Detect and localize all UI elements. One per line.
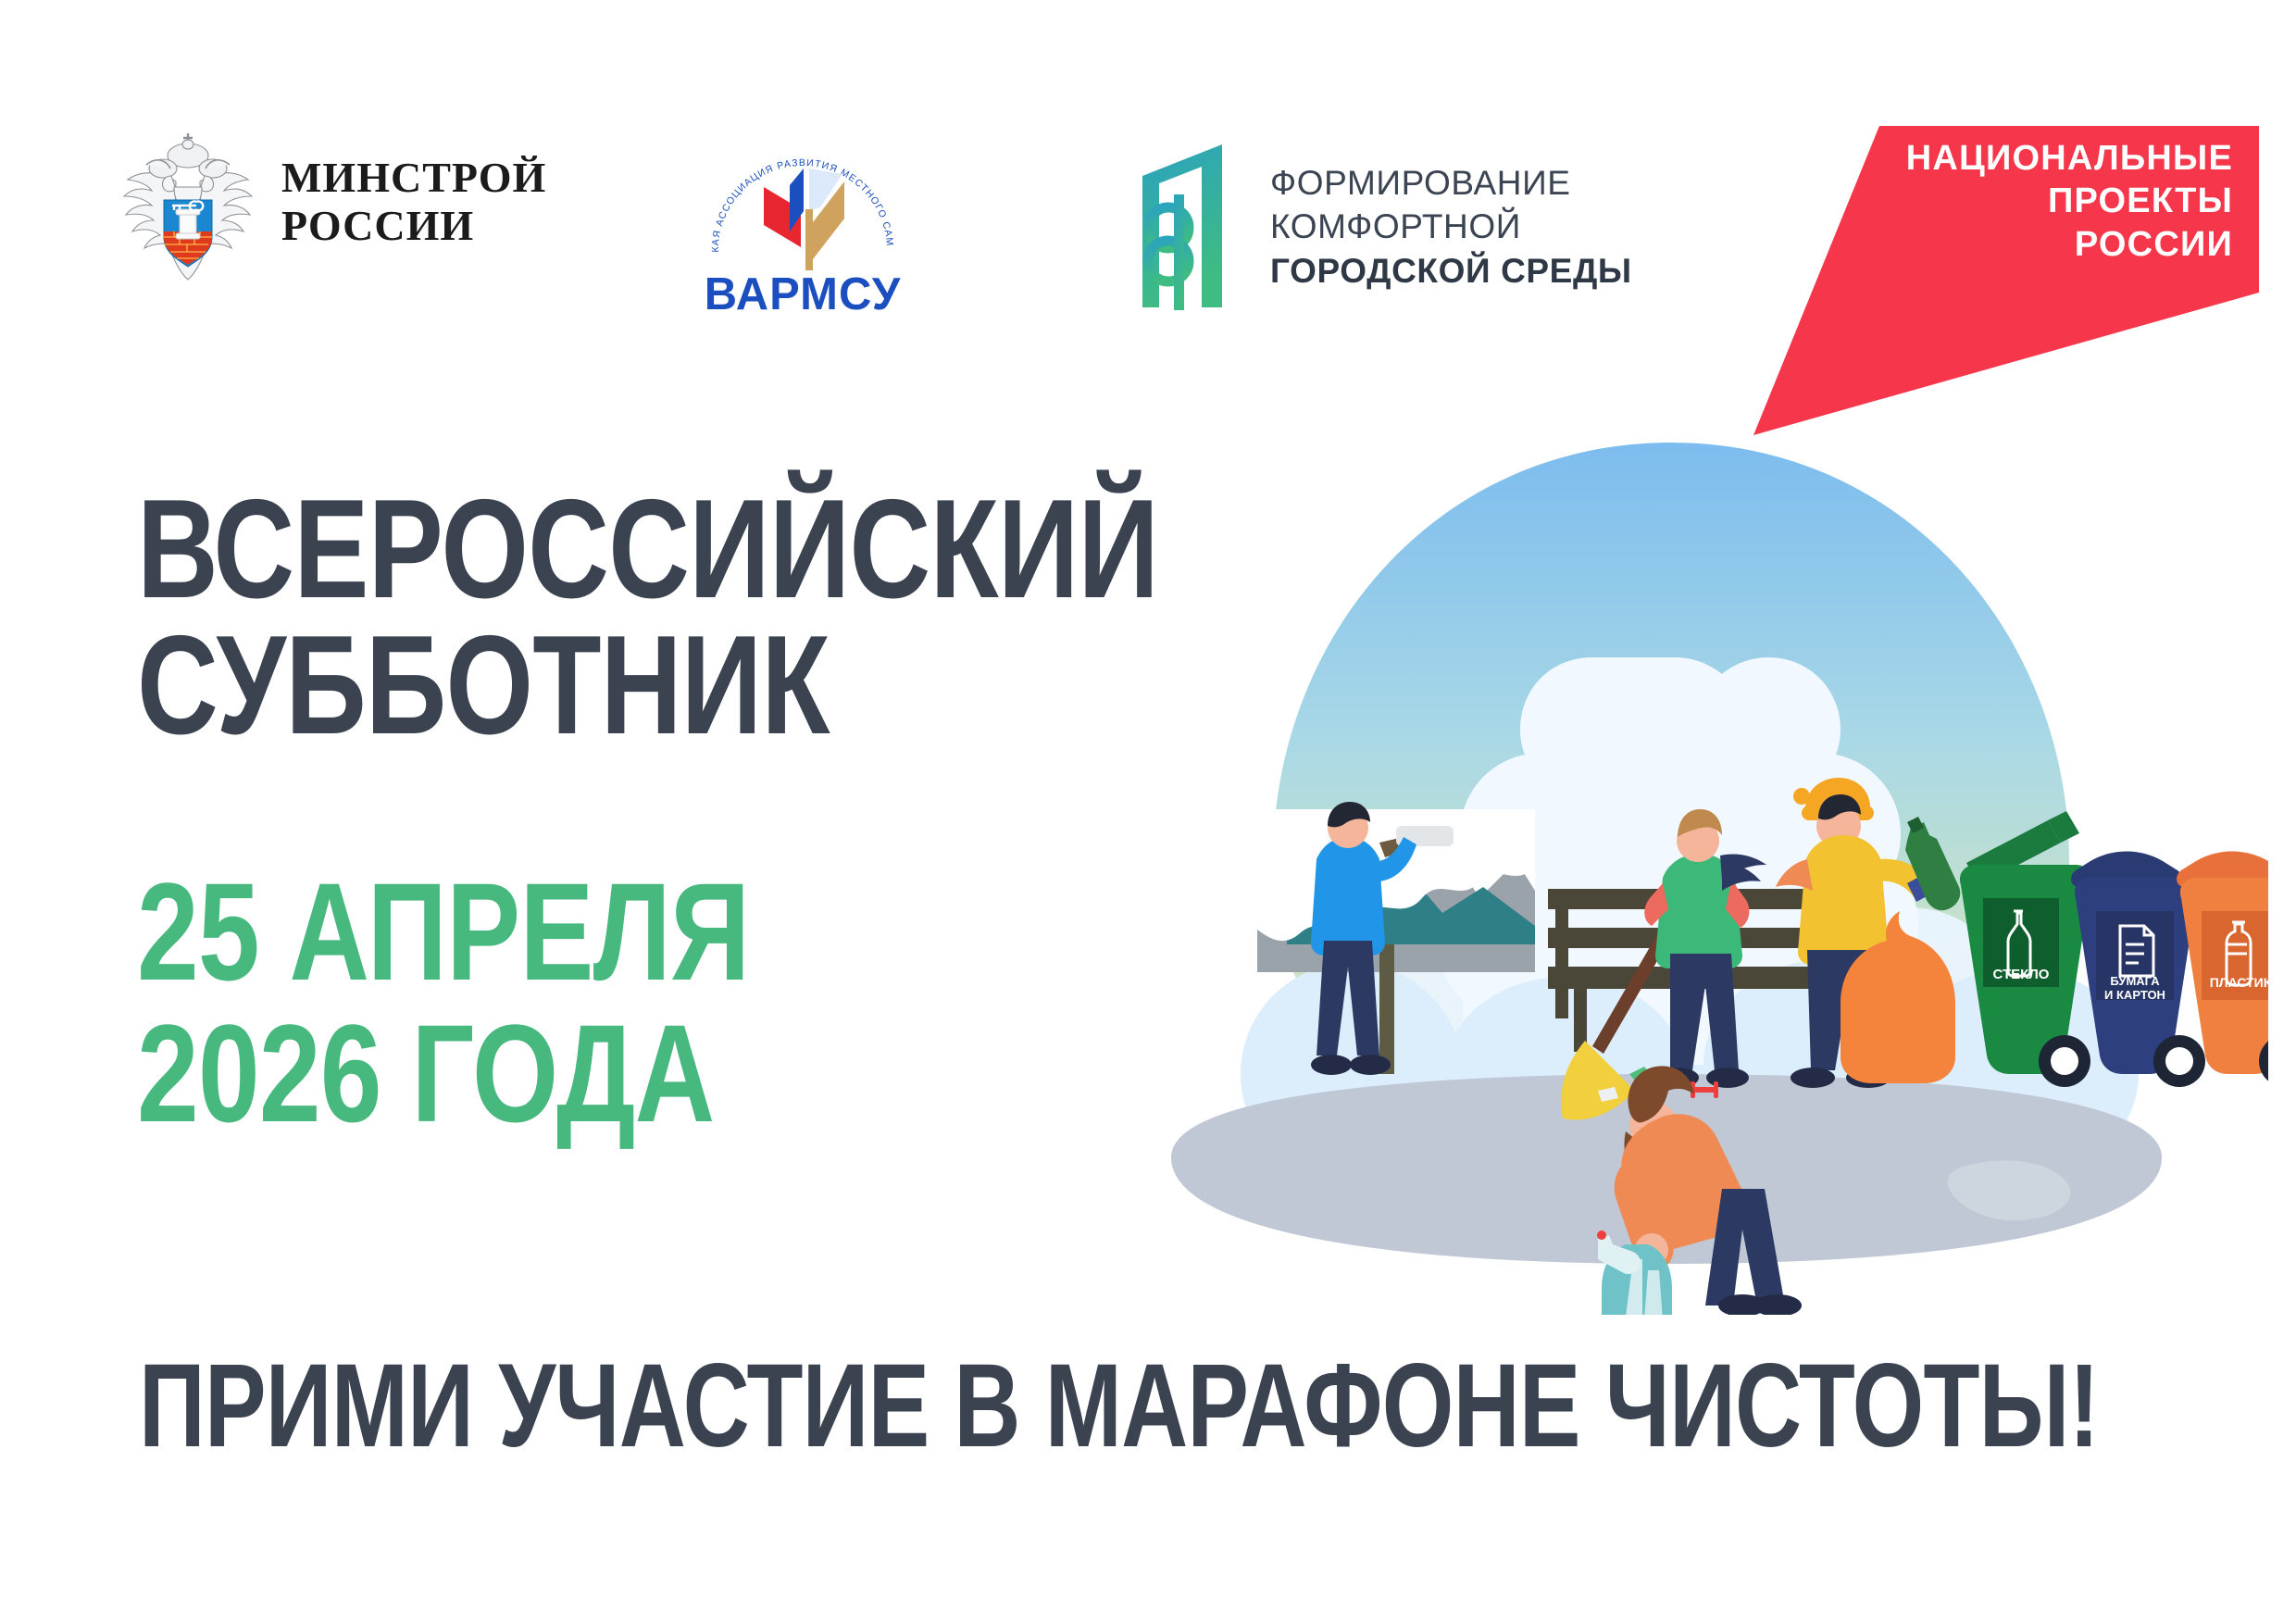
date-line2: 2026 ГОДА <box>137 1003 1011 1144</box>
bin-steklo-label: СТЕКЛО <box>1993 967 2050 982</box>
date-line1: 25 АПРЕЛЯ <box>137 861 1011 1003</box>
logo-minstroy-rossii[interactable]: МИНСТРОЙ РОССИИ <box>119 128 546 276</box>
minstroy-line2: РОССИИ <box>281 202 546 250</box>
poster-canvas: МИНСТРОЙ РОССИИ ВСЕРОССИЙСКАЯ АССОЦИАЦИЯ… <box>0 0 2296 1624</box>
np-line1: НАЦИОНАЛЬНЫЕ <box>1906 137 2233 180</box>
cta-text: ПРИМИ УЧАСТИЕ В МАРАФОНЕ ЧИСТОТЫ! <box>139 1347 1800 1466</box>
headline-line1: ВСЕРОССИЙСКИЙ <box>137 481 1011 618</box>
recycling-bins-group: СТЕКЛО БУМАГАИ КАРТОН <box>1960 811 2268 1087</box>
house-leaf-icon <box>1131 139 1242 315</box>
np-line3: РОССИИ <box>1906 223 2233 266</box>
subbotnik-cleanup-illustration: СТЕКЛО БУМАГАИ КАРТОН <box>1074 426 2268 1315</box>
logo-row: МИНСТРОЙ РОССИИ ВСЕРОССИЙСКАЯ АССОЦИАЦИЯ… <box>0 0 2296 435</box>
svg-text:БУМАГАИ КАРТОН: БУМАГАИ КАРТОН <box>2104 974 2165 1002</box>
comfort-city-wordmark: ФОРМИРОВАНИЕ КОМФОРТНОЙ ГОРОДСКОЙ СРЕДЫ <box>1270 161 1632 293</box>
logo-komfortnaya-gorodskaya-sreda[interactable]: ФОРМИРОВАНИЕ КОМФОРТНОЙ ГОРОДСКОЙ СРЕДЫ <box>1131 139 1632 315</box>
gs-line1: ФОРМИРОВАНИЕ <box>1270 161 1632 205</box>
bin-plastik-label: ПЛАСТИК <box>2210 975 2268 990</box>
double-headed-eagle-icon <box>119 128 257 276</box>
minstroy-line1: МИНСТРОЙ <box>281 154 546 202</box>
headline-line2: СУББОТНИК <box>137 618 1011 754</box>
national-projects-wordmark: НАЦИОНАЛЬНЫЕ ПРОЕКТЫ РОССИИ <box>1906 137 2233 266</box>
logo-varmsu[interactable]: ВСЕРОССИЙСКАЯ АССОЦИАЦИЯ РАЗВИТИЯ МЕСТНО… <box>696 130 909 319</box>
gs-line3: ГОРОДСКОЙ СРЕДЫ <box>1270 249 1632 293</box>
varmsu-wordmark: ВАРМСУ <box>696 269 909 320</box>
event-date: 25 АПРЕЛЯ 2026 ГОДА <box>137 861 1229 1144</box>
minstroy-wordmark: МИНСТРОЙ РОССИИ <box>281 154 546 249</box>
page-title: ВСЕРОССИЙСКИЙ СУББОТНИК <box>137 481 1229 755</box>
np-line2: ПРОЕКТЫ <box>1906 180 2233 222</box>
gs-line2: КОМФОРТНОЙ <box>1270 205 1632 248</box>
call-to-action: ПРИМИ УЧАСТИЕ В МАРАФОНЕ ЧИСТОТЫ! <box>139 1347 2268 1466</box>
logo-natsionalnye-proekty[interactable]: НАЦИОНАЛЬНЫЕ ПРОЕКТЫ РОССИИ <box>1741 109 2259 443</box>
